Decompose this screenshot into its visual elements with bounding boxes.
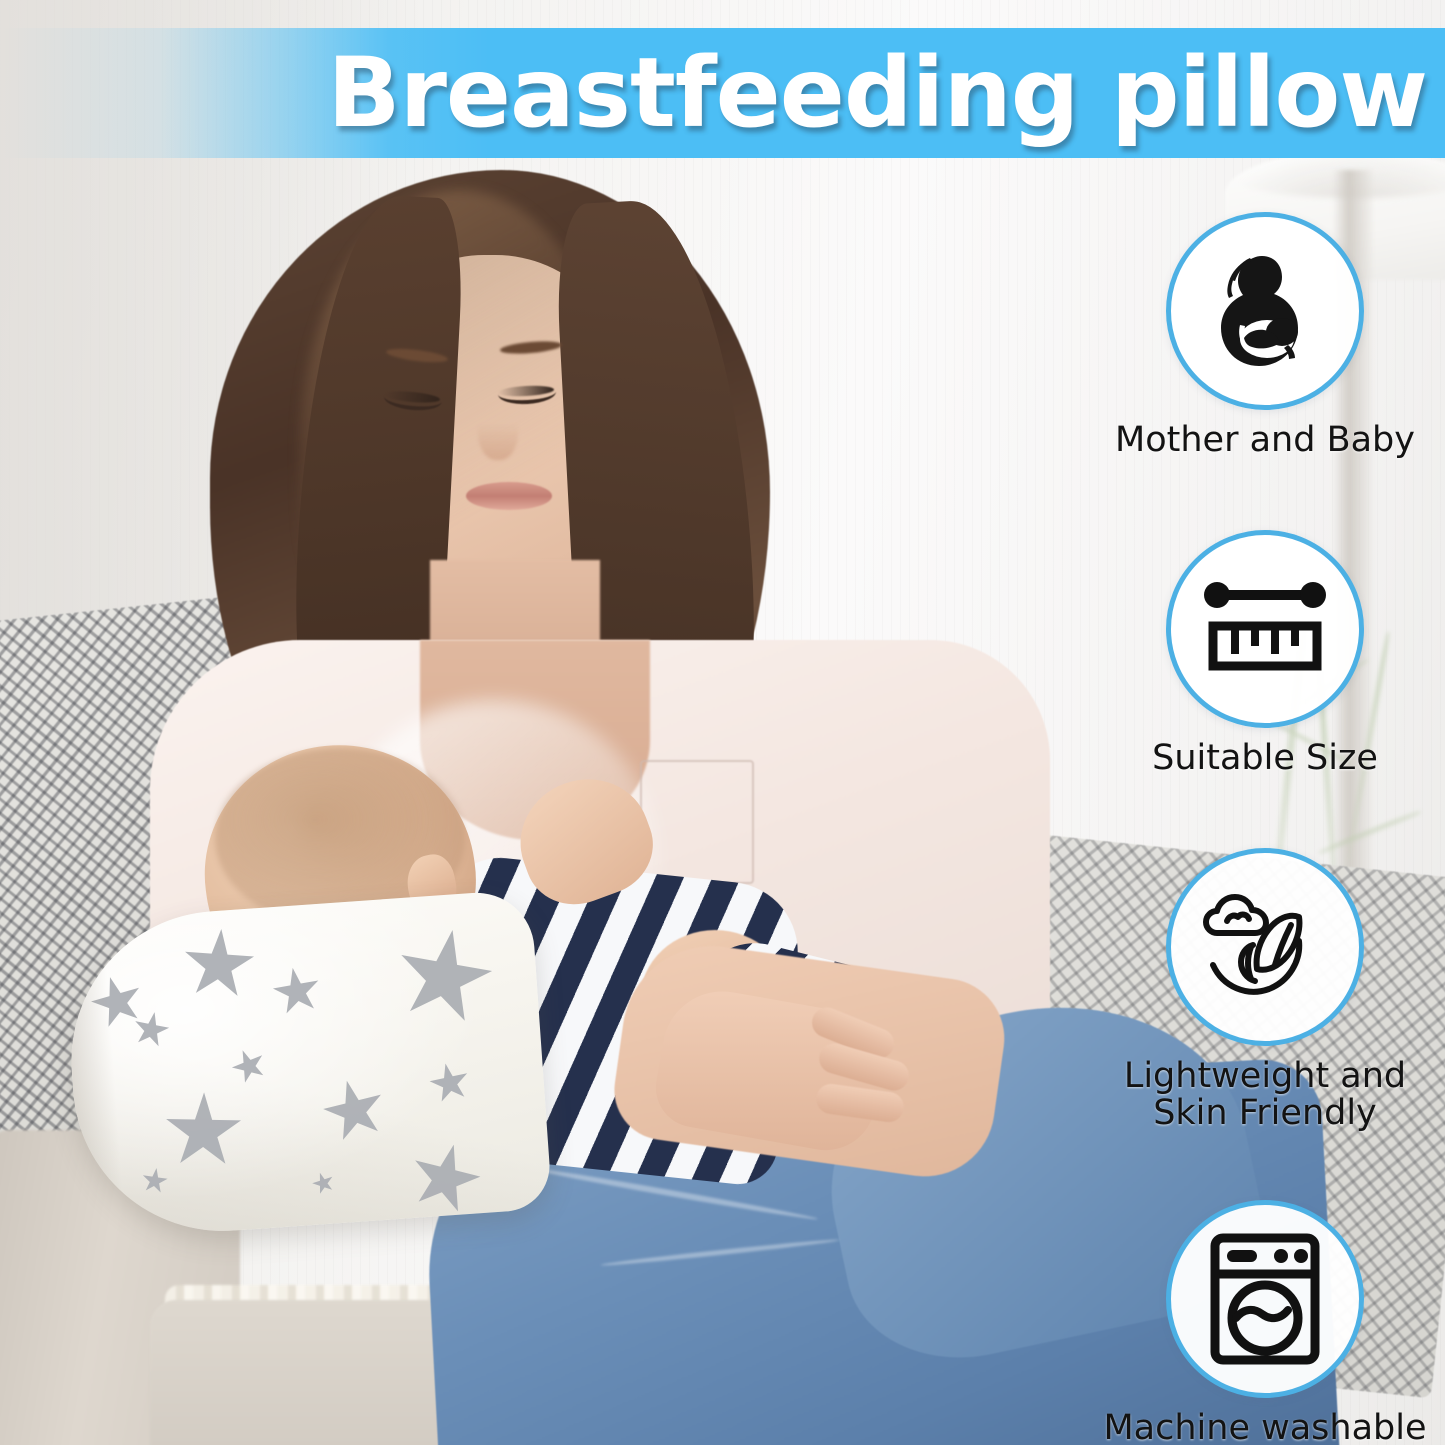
product-poster: Breastfeeding pillow xyxy=(0,0,1445,1445)
title-banner: Breastfeeding pillow xyxy=(0,28,1445,158)
feature-list: Mother and Baby xyxy=(1085,200,1445,1445)
feature-item-suitable-size[interactable]: Suitable Size xyxy=(1085,530,1445,777)
feature-label: Mother and Baby xyxy=(1115,422,1415,459)
feature-item-lightweight-skin-friendly[interactable]: Lightweight and Skin Friendly xyxy=(1085,848,1445,1132)
feature-label: Suitable Size xyxy=(1152,740,1378,777)
mother-nose xyxy=(478,400,518,460)
shirt-pocket xyxy=(640,760,754,884)
breastfeeding-pillow xyxy=(61,889,552,1241)
feature-item-mother-and-baby[interactable]: Mother and Baby xyxy=(1085,212,1445,459)
feature-item-machine-washable[interactable]: Machine washable xyxy=(1085,1200,1445,1445)
mother-lips xyxy=(466,482,552,510)
washing-machine-icon xyxy=(1166,1200,1364,1398)
ruler-measure-icon xyxy=(1166,530,1364,728)
pillow-shading xyxy=(61,889,552,1241)
page-title: Breastfeeding pillow xyxy=(327,45,1427,141)
feature-label: Machine washable xyxy=(1103,1410,1426,1445)
feature-label: Lightweight and Skin Friendly xyxy=(1124,1058,1406,1132)
cloud-feather-icon xyxy=(1166,848,1364,1046)
mother-baby-icon xyxy=(1166,212,1364,410)
